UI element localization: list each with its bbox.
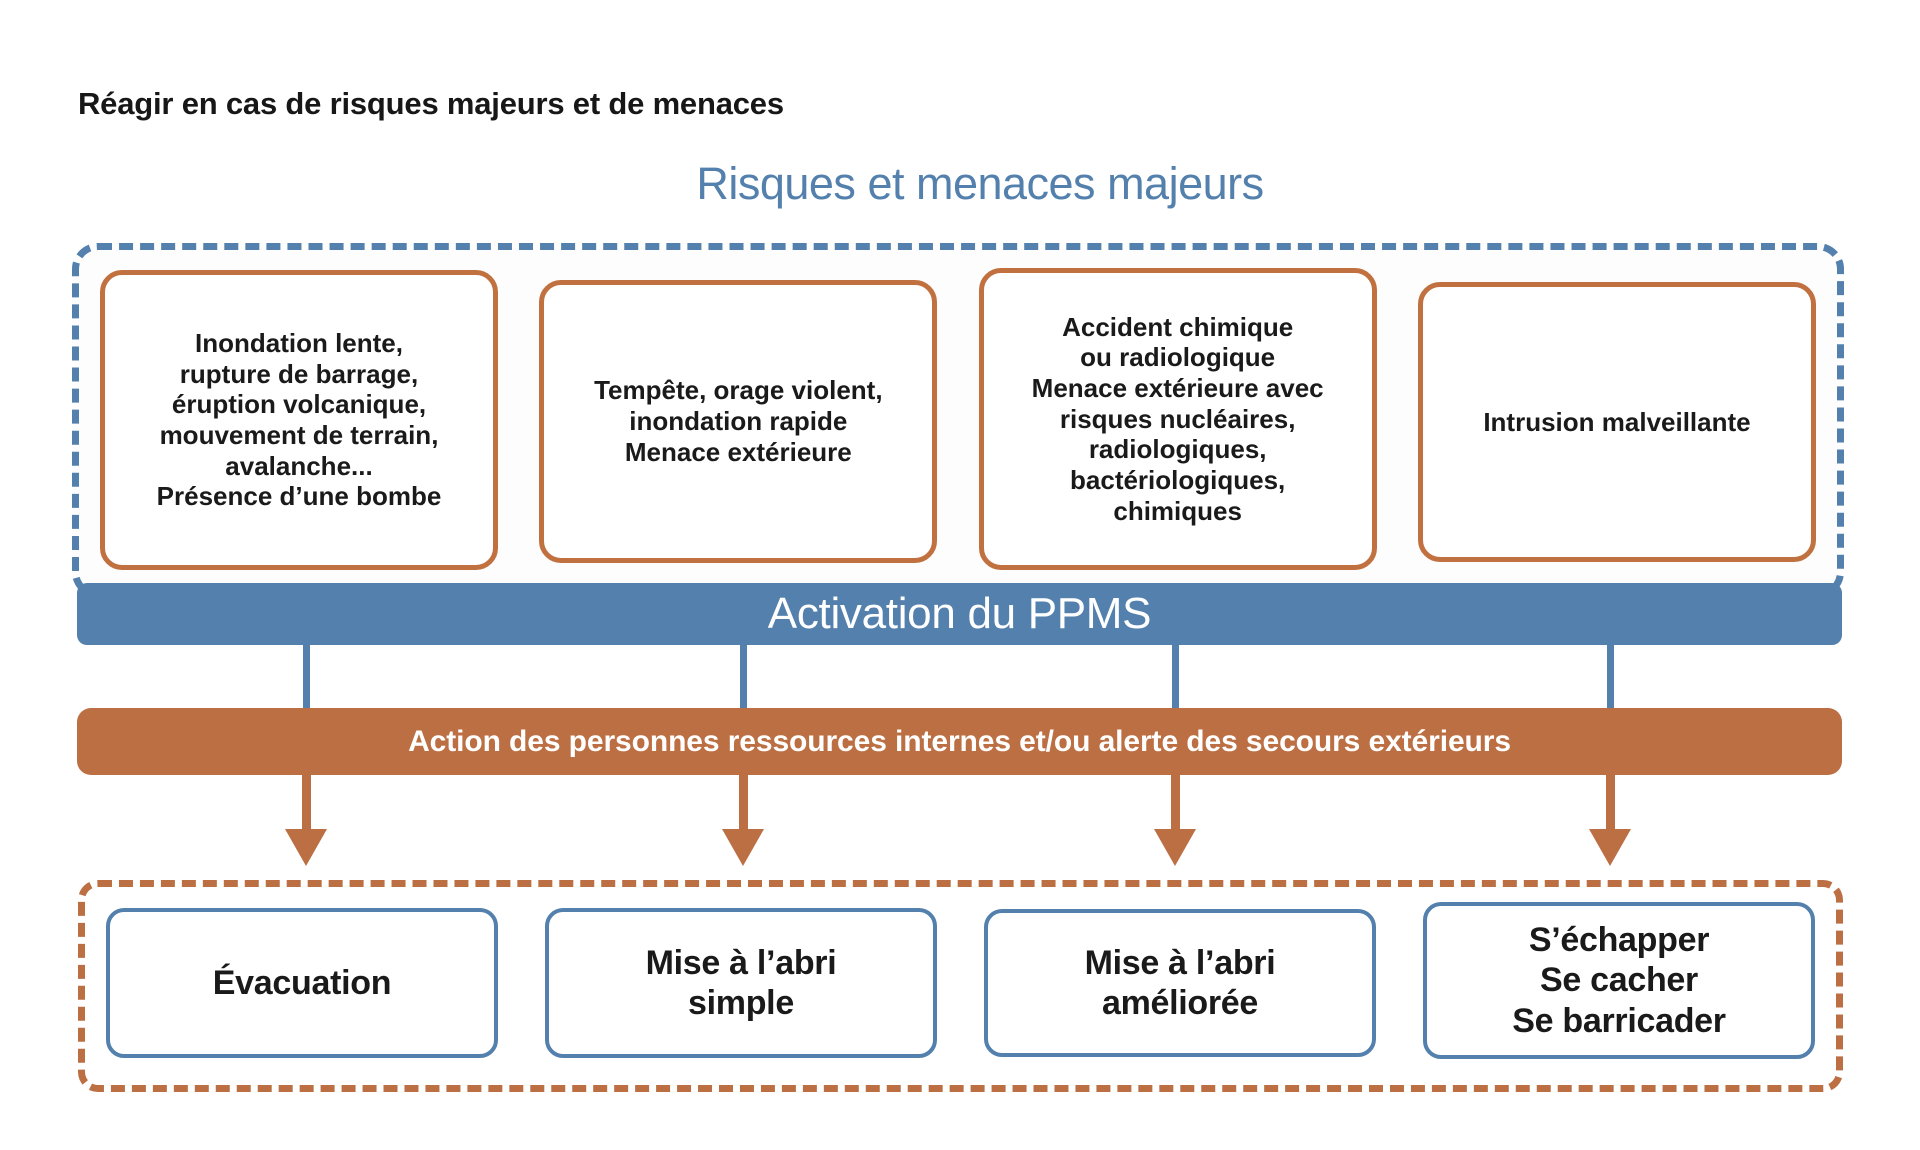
response-box-2[interactable]: Mise à l’abri simple bbox=[545, 908, 937, 1058]
response-box-4[interactable]: S’échapper Se cacher Se barricader bbox=[1423, 902, 1815, 1059]
blue-connector-1 bbox=[303, 645, 310, 710]
risk-box-1[interactable]: Inondation lente, rupture de barrage, ér… bbox=[100, 270, 498, 570]
blue-connector-2 bbox=[740, 645, 747, 710]
arrow-head-icon bbox=[1589, 829, 1631, 866]
orange-arrow-1 bbox=[279, 775, 333, 865]
orange-arrow-2 bbox=[716, 775, 770, 865]
ppms-activation-bar: Activation du PPMS bbox=[77, 583, 1842, 645]
action-bar: Action des personnes ressources internes… bbox=[77, 708, 1842, 775]
arrow-shaft bbox=[302, 775, 311, 831]
orange-arrow-3 bbox=[1148, 775, 1202, 865]
arrow-head-icon bbox=[1154, 829, 1196, 866]
page-title: Réagir en cas de risques majeurs et de m… bbox=[78, 86, 784, 122]
orange-arrow-4 bbox=[1583, 775, 1637, 865]
blue-connector-3 bbox=[1172, 645, 1179, 710]
arrow-head-icon bbox=[285, 829, 327, 866]
risk-box-3[interactable]: Accident chimique ou radiologique Menace… bbox=[979, 268, 1377, 570]
arrow-shaft bbox=[739, 775, 748, 831]
section-title: Risques et menaces majeurs bbox=[0, 158, 1920, 210]
risk-box-2[interactable]: Tempête, orage violent, inondation rapid… bbox=[539, 280, 937, 563]
arrow-head-icon bbox=[722, 829, 764, 866]
responses-row: Évacuation Mise à l’abri simple Mise à l… bbox=[78, 900, 1843, 1070]
arrow-shaft bbox=[1606, 775, 1615, 831]
response-box-3[interactable]: Mise à l’abri améliorée bbox=[984, 909, 1376, 1057]
response-box-1[interactable]: Évacuation bbox=[106, 908, 498, 1058]
risk-box-4[interactable]: Intrusion malveillante bbox=[1418, 282, 1816, 562]
risks-row: Inondation lente, rupture de barrage, ér… bbox=[72, 270, 1844, 575]
arrow-shaft bbox=[1171, 775, 1180, 831]
blue-connector-4 bbox=[1607, 645, 1614, 710]
